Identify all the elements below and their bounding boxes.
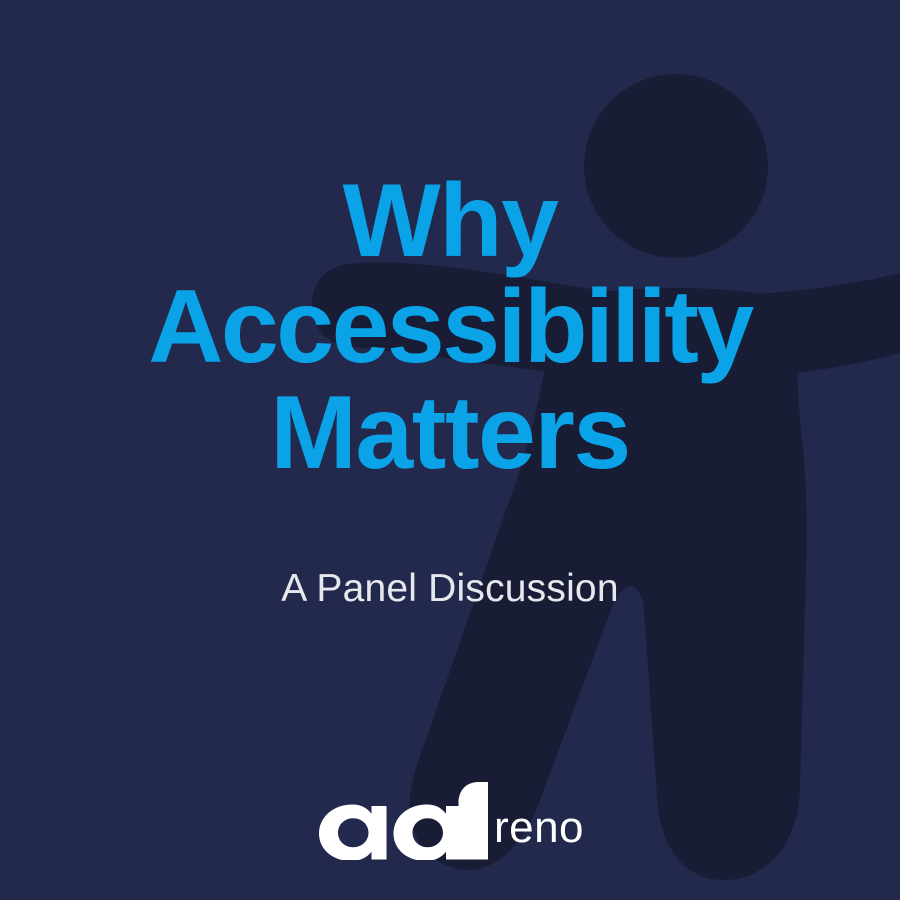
headline-line-2: Accessibility — [0, 274, 900, 380]
brand-logo: R reno — [0, 760, 900, 860]
svg-text:R: R — [465, 849, 471, 858]
logo-reno-label: reno — [494, 806, 584, 860]
poster-canvas: Why Accessibility Matters A Panel Discus… — [0, 0, 900, 900]
page-title: Why Accessibility Matters — [0, 168, 900, 486]
page-subtitle: A Panel Discussion — [0, 566, 900, 613]
headline-line-3: Matters — [0, 380, 900, 486]
aaf-wordmark-icon: R — [316, 782, 488, 860]
poster-content: Why Accessibility Matters A Panel Discus… — [0, 0, 900, 900]
headline-line-1: Why — [0, 168, 900, 274]
